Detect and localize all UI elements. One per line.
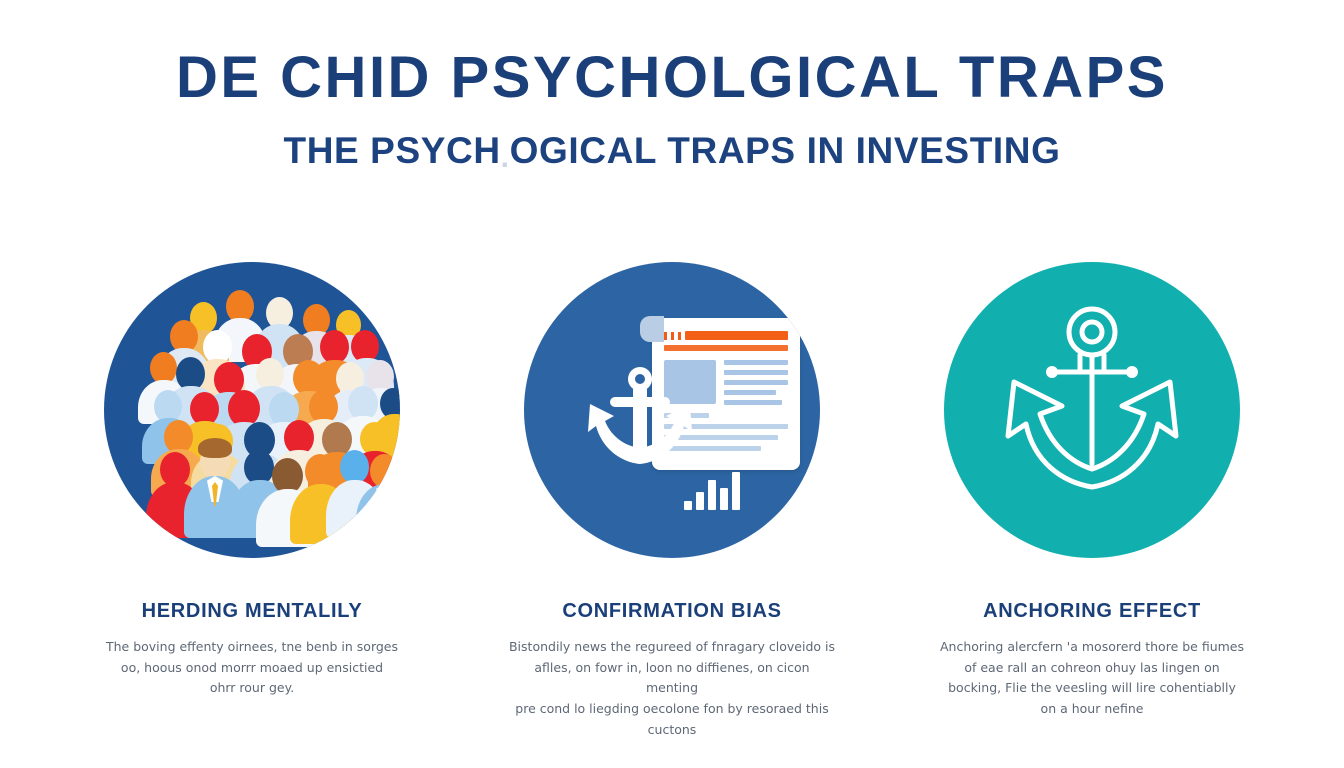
anchor-line-art: [992, 304, 1192, 514]
cards-row: HERDING MENTALILY The boving effenty oir…: [0, 262, 1344, 740]
card-herding-mentality: HERDING MENTALILY The boving effenty oir…: [62, 262, 442, 740]
title-block: DE CHID PSYCHOLGICAL TRAPS THE PSYCH.OGI…: [0, 48, 1344, 172]
card-description-line: aflles, on fowr in, loon no diffienes, o…: [507, 658, 837, 699]
card-description: Anchoring alercfern 'a mosorerd thore be…: [927, 637, 1257, 720]
card-confirmation-bias: CONFIRMATION BIAS Bistondily news the re…: [482, 262, 862, 740]
crowd-of-people-icon: [104, 262, 400, 558]
subtitle-part-2: OGICAL TRAPS IN INVESTING: [510, 130, 1061, 171]
bar-chart-icon: [684, 470, 740, 510]
card-anchoring-effect: ANCHORING EFFECT Anchoring alercfern 'a …: [902, 262, 1282, 740]
card-description-line: bocking, Flie the veesling will lire coh…: [927, 678, 1257, 699]
card-description-line: on a hour nefine: [927, 699, 1257, 720]
card-description-line: Bistondily news the regureed of fnragary…: [507, 637, 837, 658]
article-text-lines: [724, 360, 788, 405]
headline-subbar: [664, 345, 788, 351]
infographic-poster: DE CHID PSYCHOLGICAL TRAPS THE PSYCH.OGI…: [0, 0, 1344, 768]
card-description-line: ohrr rour gey.: [87, 678, 417, 699]
headline-row: [664, 331, 788, 340]
card-description-line: pre cond lo liegding oecolone fon by res…: [507, 699, 837, 720]
anchor-solid-icon: [580, 366, 700, 476]
card-description-line: cuctons: [507, 720, 837, 741]
crowd-figures: [104, 262, 400, 558]
page-title: DE CHID PSYCHOLGICAL TRAPS: [0, 48, 1344, 109]
anchor-outline-icon: [944, 262, 1240, 558]
subtitle-letter-artifact: .: [501, 141, 510, 174]
page-subtitle: THE PSYCH.OGICAL TRAPS IN INVESTING: [0, 131, 1344, 172]
card-title: CONFIRMATION BIAS: [562, 600, 781, 623]
card-title: HERDING MENTALILY: [142, 600, 363, 623]
card-description-line: The boving effenty oirnees, tne benb in …: [87, 637, 417, 658]
anchor-and-newspaper-icon: [524, 262, 820, 558]
subtitle-part-1: THE PSYCH: [284, 130, 501, 171]
card-description-line: Anchoring alercfern 'a mosorerd thore be…: [927, 637, 1257, 658]
card-title: ANCHORING EFFECT: [983, 600, 1201, 623]
card-description: The boving effenty oirnees, tne benb in …: [87, 637, 417, 699]
card-description: Bistondily news the regureed of fnragary…: [507, 637, 837, 740]
card-description-line: oo, hoous onod morrr moaed up ensictied: [87, 658, 417, 679]
card-description-line: of eae rall an cohreon ohuy las lingen o…: [927, 658, 1257, 679]
